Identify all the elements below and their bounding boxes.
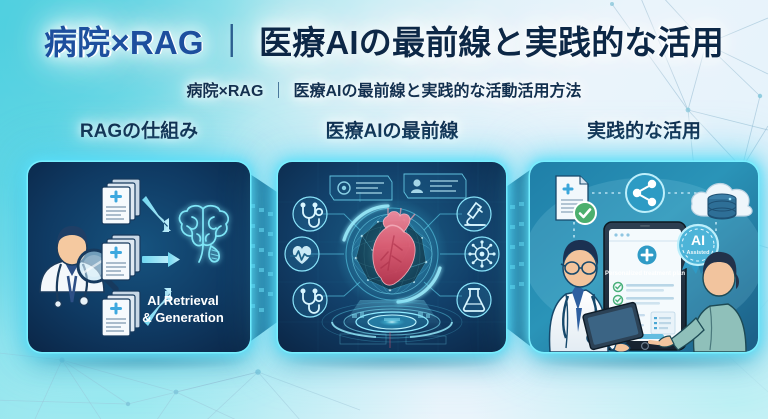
- panel-medical-ai-frontier[interactable]: [278, 162, 506, 352]
- ai-badge-label: AI: [691, 232, 705, 248]
- panel-rag-mechanism[interactable]: AI Retrieval & Generation: [28, 162, 250, 352]
- share-icon: [626, 174, 664, 212]
- rag-caption-line1: AI Retrieval: [147, 293, 219, 308]
- stethoscope-icon: [293, 197, 327, 231]
- section-heading-practical-use-label: 実践的な活用: [587, 121, 701, 142]
- page-subtitle-tagline: 医療AIの最前線と実践的な活動活用方法: [293, 83, 581, 100]
- page-title: 病院×RAG｜医療AIの最前線と実践的な活用: [0, 26, 768, 59]
- heartbeat-icon: [285, 237, 319, 271]
- flask-icon: [457, 283, 491, 317]
- medical-document-stack-icon: [102, 179, 140, 336]
- page-title-tagline: 医療AIの最前線と実践的な活用: [259, 24, 724, 61]
- page-subtitle-separator: ｜: [270, 83, 286, 100]
- microscope-icon: [457, 197, 491, 231]
- check-badge-icon: [574, 202, 596, 224]
- rag-caption-line2: & Generation: [142, 310, 224, 325]
- page-title-brand: 病院×RAG: [44, 24, 204, 61]
- section-heading-practical-use: 実践的な活用 実践的な活用: [530, 122, 758, 141]
- page-subtitle-brand: 病院×RAG: [187, 83, 264, 100]
- section-heading-medical-ai-label: 医療AIの最前線: [325, 121, 458, 142]
- page-subtitle: 病院×RAG｜医療AIの最前線と実践的な活動活用方法: [0, 84, 768, 100]
- stethoscope-icon-2: [293, 283, 327, 317]
- section-heading-rag: RAGの仕組み RAGの仕組み: [28, 122, 250, 141]
- ai-badge-sub: Assisted: [687, 250, 710, 256]
- section-heading-rag-label: RAGの仕組み: [80, 121, 198, 142]
- panel-practical-use[interactable]: Personalized treatment plan: [530, 162, 758, 352]
- tablet-title: Personalized treatment plan: [605, 271, 685, 277]
- page-title-separator: ｜: [215, 23, 248, 60]
- virus-molecule-icon: [465, 237, 499, 271]
- section-heading-medical-ai: 医療AIの最前線 医療AIの最前線: [278, 122, 506, 141]
